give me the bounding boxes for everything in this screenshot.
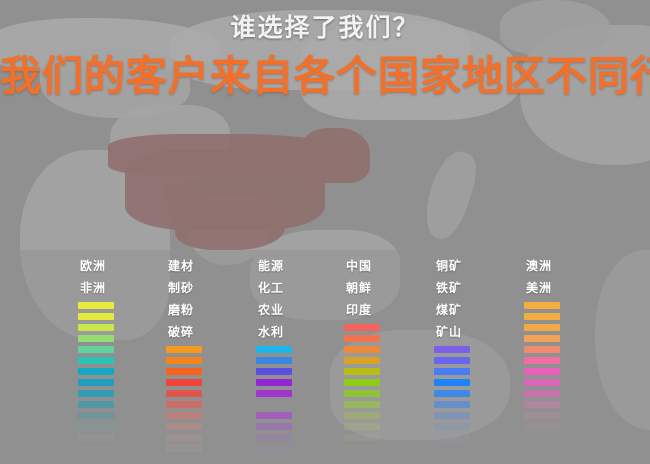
column-bar-stack	[524, 302, 604, 441]
column-bar-stack	[344, 324, 424, 452]
column-bar-stack	[256, 346, 336, 463]
column-label: 煤矿	[436, 299, 514, 321]
column-label: 化工	[258, 277, 336, 299]
column-regions-europe-africa: 欧洲非洲	[78, 255, 158, 456]
column-labels: 能源化工农业水利	[256, 255, 336, 343]
column-label: 矿山	[436, 321, 514, 343]
column-services-construction: 建材制砂磨粉破碎	[166, 255, 246, 464]
column-label: 建材	[168, 255, 246, 277]
color-bar	[78, 346, 114, 353]
color-bar	[344, 357, 380, 364]
color-bar	[524, 302, 560, 309]
header-block: 谁选择了我们？ 我们的客户来自各个国家地区不同行业	[0, 12, 650, 102]
color-bar	[166, 412, 202, 419]
color-bar	[78, 302, 114, 309]
color-bar	[78, 434, 114, 441]
color-bar	[524, 324, 560, 331]
color-bar	[166, 379, 202, 386]
color-bar	[256, 379, 292, 386]
color-bar	[78, 423, 114, 430]
slide-canvas: 谁选择了我们？ 我们的客户来自各个国家地区不同行业 欧洲非洲 建材制砂磨粉破碎 …	[0, 0, 650, 464]
color-bar	[166, 368, 202, 375]
column-label: 铁矿	[436, 277, 514, 299]
color-bar	[78, 412, 114, 419]
column-bar-stack	[434, 346, 514, 452]
color-bar	[344, 434, 380, 441]
color-bar	[524, 412, 560, 419]
color-bar	[434, 346, 470, 353]
color-bar	[256, 357, 292, 364]
color-bar	[78, 357, 114, 364]
color-bar	[256, 368, 292, 375]
column-bar-stack	[78, 302, 158, 452]
color-bar	[434, 423, 470, 430]
color-bar	[434, 401, 470, 408]
column-label: 印度	[346, 299, 424, 321]
color-bar	[78, 335, 114, 342]
color-bar	[434, 445, 470, 452]
color-bar	[256, 434, 292, 441]
color-bar	[78, 324, 114, 331]
color-bar	[524, 401, 560, 408]
color-bar	[344, 423, 380, 430]
color-bar	[344, 390, 380, 397]
color-bar	[166, 346, 202, 353]
color-bar	[344, 368, 380, 375]
column-bar-stack	[166, 346, 246, 463]
color-bar	[166, 445, 202, 452]
page-title: 我们的客户来自各个国家地区不同行业	[0, 50, 650, 102]
color-bar	[78, 390, 114, 397]
color-bar	[166, 390, 202, 397]
color-bar	[166, 456, 202, 463]
column-labels: 澳洲美洲	[524, 255, 604, 299]
color-bar	[524, 379, 560, 386]
color-bar	[256, 412, 292, 419]
column-label: 非洲	[80, 277, 158, 299]
color-bar	[434, 379, 470, 386]
color-bar	[524, 346, 560, 353]
color-bar	[166, 357, 202, 364]
color-bar	[256, 390, 292, 397]
column-industries-energy: 能源化工农业水利	[256, 255, 336, 464]
color-bar	[344, 346, 380, 353]
column-minerals-ore: 铜矿铁矿煤矿矿山	[434, 255, 514, 456]
color-bar	[166, 434, 202, 441]
color-bar	[434, 368, 470, 375]
color-bar	[524, 434, 560, 441]
column-label: 制砂	[168, 277, 246, 299]
color-bar	[78, 368, 114, 375]
color-bar	[78, 379, 114, 386]
color-bar	[434, 390, 470, 397]
color-bar	[344, 445, 380, 452]
column-label: 朝鲜	[346, 277, 424, 299]
column-label: 中国	[346, 255, 424, 277]
column-labels: 铜矿铁矿煤矿矿山	[434, 255, 514, 343]
column-label: 破碎	[168, 321, 246, 343]
page-subtitle: 谁选择了我们？	[0, 12, 650, 44]
column-label: 欧洲	[80, 255, 158, 277]
column-labels: 建材制砂磨粉破碎	[166, 255, 246, 343]
color-bar	[524, 357, 560, 364]
color-bar	[256, 445, 292, 452]
color-bar	[524, 423, 560, 430]
category-columns: 欧洲非洲 建材制砂磨粉破碎 能源化工农业水利 中国朝鲜印度 铜矿铁矿煤矿矿山 澳…	[0, 255, 650, 464]
column-regions-oceania-america: 澳洲美洲	[524, 255, 604, 445]
color-bar	[344, 335, 380, 342]
column-label: 美洲	[526, 277, 604, 299]
color-bar	[256, 456, 292, 463]
color-bar	[344, 379, 380, 386]
column-label: 澳洲	[526, 255, 604, 277]
color-bar	[434, 412, 470, 419]
column-countries-asia: 中国朝鲜印度	[344, 255, 424, 456]
color-bar	[434, 434, 470, 441]
color-bar	[344, 324, 380, 331]
column-label: 能源	[258, 255, 336, 277]
color-bar	[434, 357, 470, 364]
color-bar	[78, 401, 114, 408]
color-bar	[166, 401, 202, 408]
color-bar	[524, 390, 560, 397]
column-label: 水利	[258, 321, 336, 343]
column-label: 磨粉	[168, 299, 246, 321]
column-labels: 欧洲非洲	[78, 255, 158, 299]
color-bar	[78, 313, 114, 320]
color-bar	[344, 401, 380, 408]
column-labels: 中国朝鲜印度	[344, 255, 424, 321]
color-bar	[524, 368, 560, 375]
color-bar	[524, 335, 560, 342]
color-bar	[166, 423, 202, 430]
color-bar	[78, 445, 114, 452]
color-bar	[344, 412, 380, 419]
column-label: 铜矿	[436, 255, 514, 277]
color-bar	[256, 401, 292, 408]
column-label: 农业	[258, 299, 336, 321]
color-bar	[256, 346, 292, 353]
color-bar	[256, 423, 292, 430]
color-bar	[524, 313, 560, 320]
